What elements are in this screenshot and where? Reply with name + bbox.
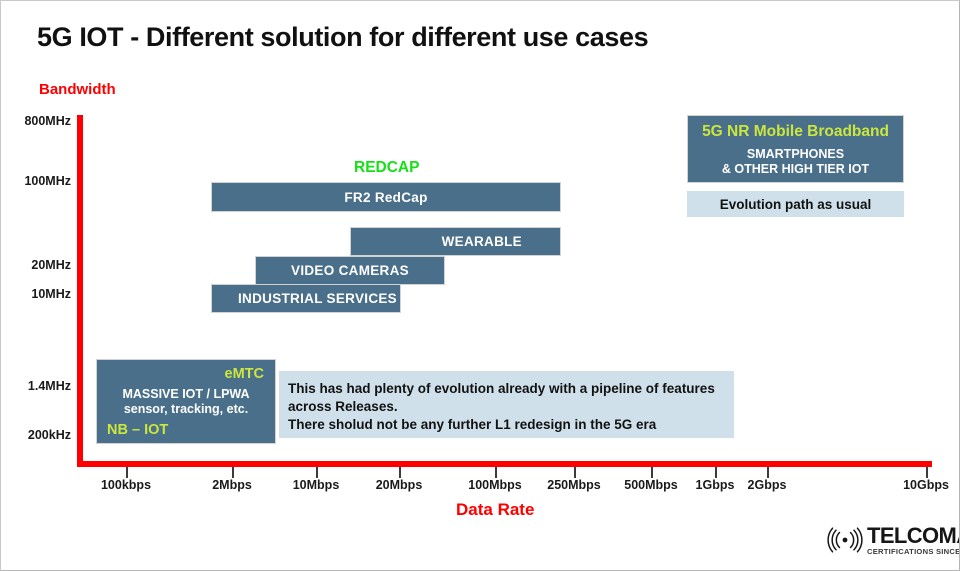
slide-canvas: 5G IOT - Different solution for differen… xyxy=(0,0,960,571)
massive-iot-description: MASSIVE IOT / LPWA sensor, tracking, etc… xyxy=(97,387,275,418)
nr-box-subtitle: SMARTPHONES & OTHER HIGH TIER IOT xyxy=(688,147,903,178)
x-tick-mark-10gbps xyxy=(926,467,928,478)
nr-box-title: 5G NR Mobile Broadband xyxy=(688,123,903,141)
x-tick-mark-500mbps xyxy=(651,467,653,478)
x-axis-ticks: 100kbps 2Mbps 10Mbps 20Mbps 100Mbps 250M… xyxy=(1,1,960,571)
x-tick-label-100mbps: 100Mbps xyxy=(468,478,522,492)
redcap-group-label: REDCAP xyxy=(354,159,419,177)
bar-label-fr2-redcap: FR2 RedCap xyxy=(344,190,427,205)
x-tick-label-500mbps: 500Mbps xyxy=(624,478,678,492)
x-tick-label-10gbps: 10Gbps xyxy=(903,478,949,492)
bar-label-video-cameras: VIDEO CAMERAS xyxy=(291,263,409,278)
bar-label-industrial-services: INDUSTRIAL SERVICES xyxy=(238,291,397,306)
nb-iot-label: NB – IOT xyxy=(107,422,168,438)
x-tick-label-2gbps: 2Gbps xyxy=(748,478,787,492)
bar-video-cameras[interactable]: VIDEO CAMERAS xyxy=(255,256,445,285)
wifi-waves-icon xyxy=(824,527,866,553)
x-tick-label-20mbps: 20Mbps xyxy=(376,478,423,492)
x-tick-label-1gbps: 1Gbps xyxy=(696,478,735,492)
emtc-label: eMTC xyxy=(225,366,264,382)
logo-tagline: CERTIFICATIONS SINCE 2009 xyxy=(867,548,960,556)
bar-label-wearable: WEARABLE xyxy=(442,234,522,249)
x-tick-label-100kbps: 100kbps xyxy=(101,478,151,492)
x-tick-mark-100kbps xyxy=(126,467,128,478)
nr-mobile-broadband-box[interactable]: 5G NR Mobile Broadband SMARTPHONES & OTH… xyxy=(687,115,904,183)
x-tick-mark-100mbps xyxy=(495,467,497,478)
logo-wordmark: TELCOMA xyxy=(867,525,960,547)
evolution-note: This has had plenty of evolution already… xyxy=(279,371,734,438)
x-tick-mark-2mbps xyxy=(232,467,234,478)
bar-wearable[interactable]: WEARABLE xyxy=(350,227,561,256)
x-tick-label-10mbps: 10Mbps xyxy=(293,478,340,492)
telcoma-logo: TELCOMA CERTIFICATIONS SINCE 2009 xyxy=(824,525,960,556)
x-tick-mark-2gbps xyxy=(767,467,769,478)
x-tick-mark-20mbps xyxy=(399,467,401,478)
bar-fr2-redcap[interactable]: FR2 RedCap xyxy=(211,182,561,212)
x-tick-label-250mbps: 250Mbps xyxy=(547,478,601,492)
x-tick-label-2mbps: 2Mbps xyxy=(212,478,252,492)
wifi-center-dot xyxy=(843,538,848,543)
massive-iot-box[interactable]: eMTC MASSIVE IOT / LPWA sensor, tracking… xyxy=(96,359,276,444)
x-tick-mark-1gbps xyxy=(715,467,717,478)
evolution-path-banner: Evolution path as usual xyxy=(687,191,904,217)
bar-industrial-services[interactable]: INDUSTRIAL SERVICES xyxy=(211,284,401,313)
x-tick-mark-250mbps xyxy=(574,467,576,478)
x-tick-mark-10mbps xyxy=(316,467,318,478)
